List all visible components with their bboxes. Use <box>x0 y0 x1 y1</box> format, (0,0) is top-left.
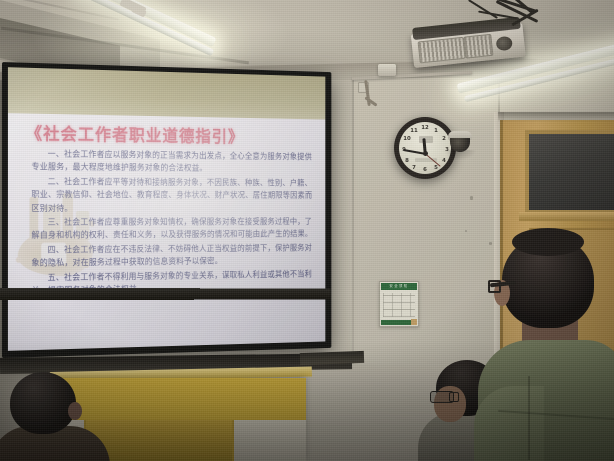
lectern-right-gap <box>230 420 306 461</box>
notice-header-text: 安全须知 <box>381 283 417 290</box>
clock-numeral: 1 <box>432 127 440 135</box>
door-glass-panel <box>525 130 614 214</box>
green-notice-board: 安全须知 <box>379 281 419 327</box>
wall-mark <box>465 230 467 232</box>
clock-numeral: 12 <box>421 124 429 132</box>
person-front-left <box>0 372 106 461</box>
junction-box <box>378 64 396 76</box>
notice-table-grid <box>383 293 415 317</box>
screen-top-band <box>8 67 325 119</box>
slide-paragraph: 一、社会工作者应以服务对象的正当需求为出发点，全心全意为服务对象提供专业服务，最… <box>31 147 315 176</box>
clock-numeral: 10 <box>403 135 411 143</box>
projector-vent-icon <box>463 34 493 59</box>
notice-corner-tape <box>411 319 417 325</box>
clock-numeral: 11 <box>410 127 418 135</box>
classroom-photo: 《社会工作者职业道德指引》 一、社会工作者应以服务对象的正当需求为出发点，全心全… <box>0 0 614 461</box>
clock-face: 12 1 2 3 4 5 6 7 8 9 10 11 <box>399 122 451 174</box>
presentation-slide: 《社会工作者职业道德指引》 一、社会工作者应以服务对象的正当需求为出发点，全心全… <box>8 113 325 351</box>
notice-header-bar: 安全须知 <box>381 283 417 290</box>
slide-paragraph: 二、社会工作者应平等对待和接纳服务对象，不因民族、种族、性别、户籍、职业、宗教信… <box>31 175 315 215</box>
wall-mark <box>470 196 473 200</box>
eyeglasses-icon <box>449 392 459 402</box>
screen-surface: 《社会工作者职业道德指引》 一、社会工作者应以服务对象的正当需求为出发点，全心全… <box>8 67 325 351</box>
person-foreground-right <box>488 236 614 461</box>
slide-paragraph: 三、社会工作者应尊重服务对象知情权，确保服务对象在接受服务过程中，了解自身和机构… <box>31 216 315 243</box>
screen-bottom-bar <box>0 288 331 300</box>
slide-paragraph: 四、社会工作者应在不违反法律、不妨碍他人正当权益的前提下，保护服务对象的隐私，对… <box>31 242 315 271</box>
slide-body-text: 一、社会工作者应以服务对象的正当需求为出发点，全心全意为服务对象提供专业服务，最… <box>31 147 315 299</box>
clock-numeral: 8 <box>403 157 411 165</box>
clock-numeral: 6 <box>421 166 429 174</box>
eyeglasses-icon <box>488 280 501 293</box>
projection-screen[interactable]: 《社会工作者职业道德指引》 一、社会工作者应以服务对象的正当需求为出发点，全心全… <box>2 62 331 358</box>
door-rail <box>519 212 614 221</box>
clock-numeral: 7 <box>410 164 418 172</box>
slide-title: 《社会工作者职业道德指引》 <box>26 119 244 147</box>
ceiling-camera-icon <box>447 131 473 153</box>
clock-center-pin <box>423 151 428 156</box>
whiteboard-tray-end <box>300 351 364 365</box>
